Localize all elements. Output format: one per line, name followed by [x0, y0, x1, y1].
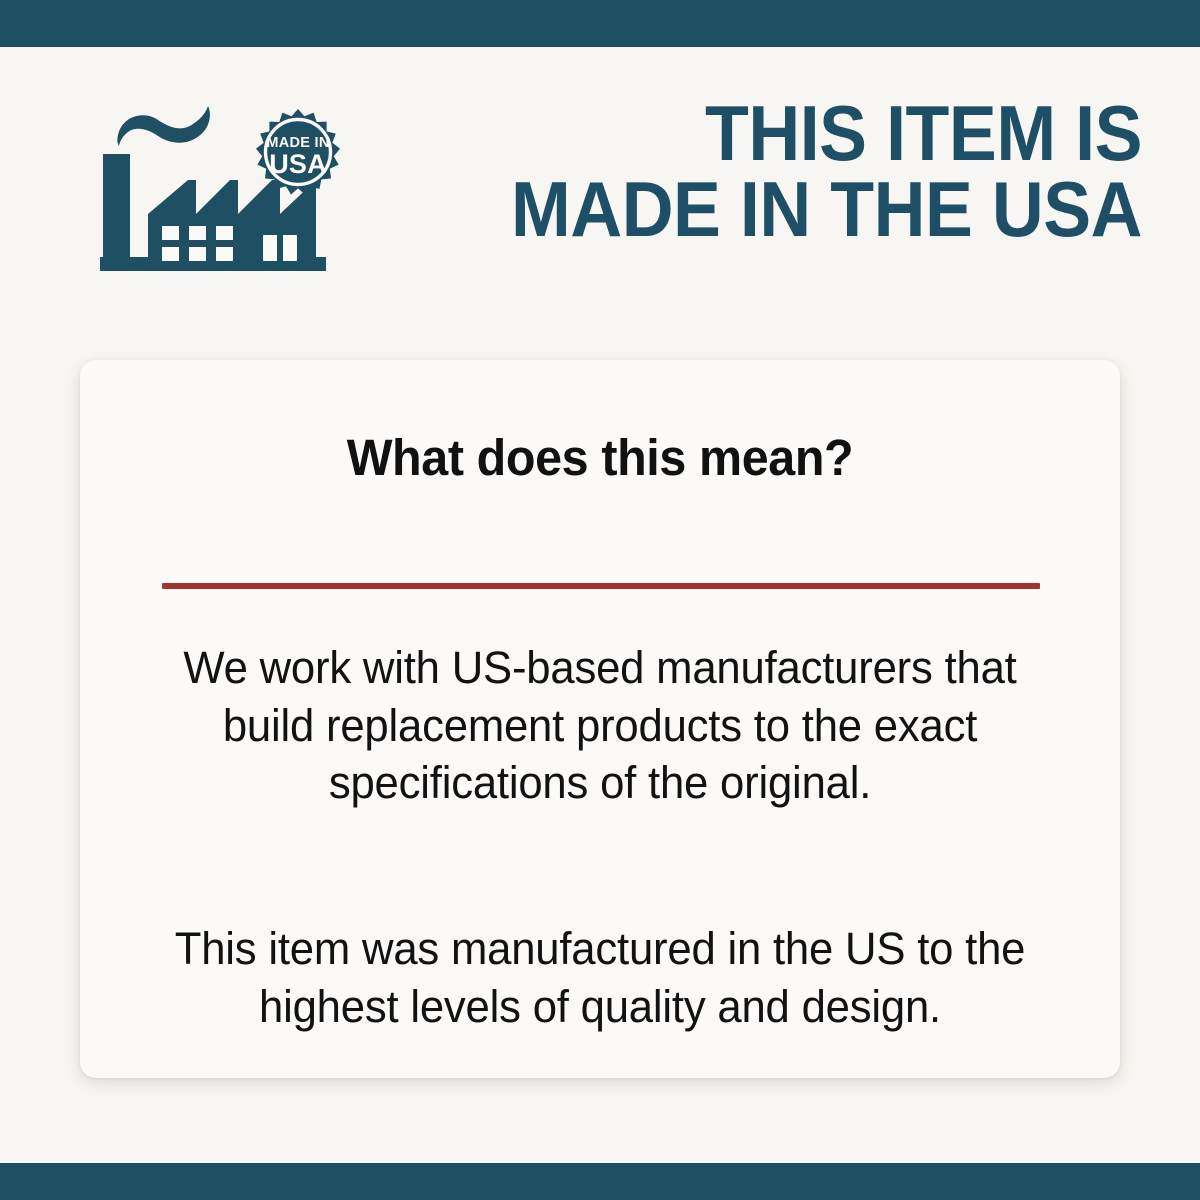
explanation-card: What does this mean? We work with US-bas…	[80, 360, 1120, 1078]
card-title: What does this mean?	[106, 428, 1094, 487]
bottom-accent-bar	[0, 1163, 1200, 1200]
headline-line-2: MADE IN THE USA	[415, 171, 1142, 247]
page-title: THIS ITEM IS MADE IN THE USA	[415, 95, 1142, 248]
header: MADE IN USA THIS ITEM IS MADE IN THE USA	[0, 47, 1200, 297]
headline-line-1: THIS ITEM IS	[415, 95, 1142, 171]
card-paragraph-2: This item was manufactured in the US to …	[165, 920, 1034, 1035]
factory-icon: MADE IN USA	[100, 102, 345, 277]
page-stage: MADE IN USA THIS ITEM IS MADE IN THE USA…	[0, 47, 1200, 1163]
card-divider	[162, 583, 1040, 589]
top-accent-bar	[0, 0, 1200, 47]
badge-line-2-text: USA	[269, 149, 327, 179]
card-paragraph-1: We work with US-based manufacturers that…	[165, 639, 1034, 812]
